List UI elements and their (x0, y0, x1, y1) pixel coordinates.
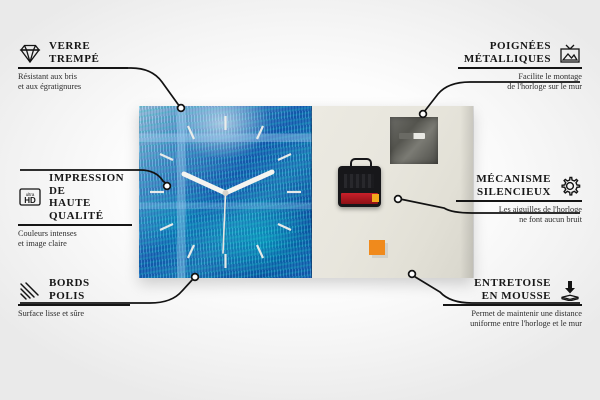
callout-title: POIGNÉES MÉTALLIQUES (464, 40, 551, 65)
callout-impression-haute-qualite: ultra HD IMPRESSION DE HAUTE QUALITÉ Cou… (18, 172, 140, 250)
callout-header: ENTRETOISE EN MOUSSE (443, 277, 582, 302)
callout-title: MÉCANISME SILENCIEUX (476, 173, 551, 198)
callout-header: VERRE TREMPÉ (18, 40, 136, 65)
picture-frame-icon (558, 42, 582, 64)
polished-edges-icon (18, 279, 42, 301)
callout-header: ultra HD IMPRESSION DE HAUTE QUALITÉ (18, 172, 140, 222)
callout-subtitle: Résistant aux bris et aux égratignures (18, 72, 136, 93)
diamond-icon (18, 42, 42, 64)
callout-title: IMPRESSION DE HAUTE QUALITÉ (49, 172, 140, 222)
callout-subtitle: Les aiguilles de l'horloge ne font aucun… (456, 205, 582, 226)
callout-verre-trempe: VERRE TREMPÉ Résistant aux bris et aux é… (18, 40, 136, 93)
callout-rule (456, 200, 582, 202)
callout-bords-polis: BORDS POLIS Surface lisse et sûre (18, 277, 136, 319)
infographic-canvas: VERRE TREMPÉ Résistant aux bris et aux é… (0, 0, 600, 400)
callout-header: BORDS POLIS (18, 277, 136, 302)
product-photo (139, 106, 473, 278)
metal-hanger-plate (390, 117, 438, 164)
callout-poignees-metalliques: POIGNÉES MÉTALLIQUES Facilite le montage… (458, 40, 582, 93)
callout-subtitle: Surface lisse et sûre (18, 309, 136, 320)
movement-bail (350, 158, 372, 170)
gear-icon (558, 175, 582, 197)
clock-face (139, 106, 312, 278)
ultra-hd-icon: ultra HD (18, 186, 42, 208)
battery (341, 193, 378, 204)
callout-subtitle: Couleurs intenses et image claire (18, 229, 140, 250)
callout-rule (18, 67, 128, 69)
callout-subtitle: Permet de maintenir une distance uniform… (443, 309, 582, 330)
callout-header: MÉCANISME SILENCIEUX (456, 173, 582, 198)
movement-detail (344, 174, 374, 188)
callout-rule (458, 67, 582, 69)
clock-back-panel (312, 106, 473, 278)
callout-rule (18, 224, 132, 226)
clock-movement (338, 166, 381, 207)
press-down-icon (558, 279, 582, 301)
callout-entretoise-en-mousse: ENTRETOISE EN MOUSSE Permet de maintenir… (443, 277, 582, 330)
callout-rule (443, 304, 582, 306)
callout-subtitle: Facilite le montage de l'horloge sur le … (458, 72, 582, 93)
callout-header: POIGNÉES MÉTALLIQUES (458, 40, 582, 65)
hanger-slot (399, 133, 425, 139)
callout-title: ENTRETOISE EN MOUSSE (474, 277, 551, 302)
svg-text:HD: HD (24, 196, 36, 205)
callout-mecanisme-silencieux: MÉCANISME SILENCIEUX Les aiguilles de l'… (456, 173, 582, 226)
callout-title: VERRE TREMPÉ (49, 40, 99, 65)
callout-rule (18, 304, 130, 306)
callout-title: BORDS POLIS (49, 277, 90, 302)
foam-spacer (369, 240, 385, 255)
